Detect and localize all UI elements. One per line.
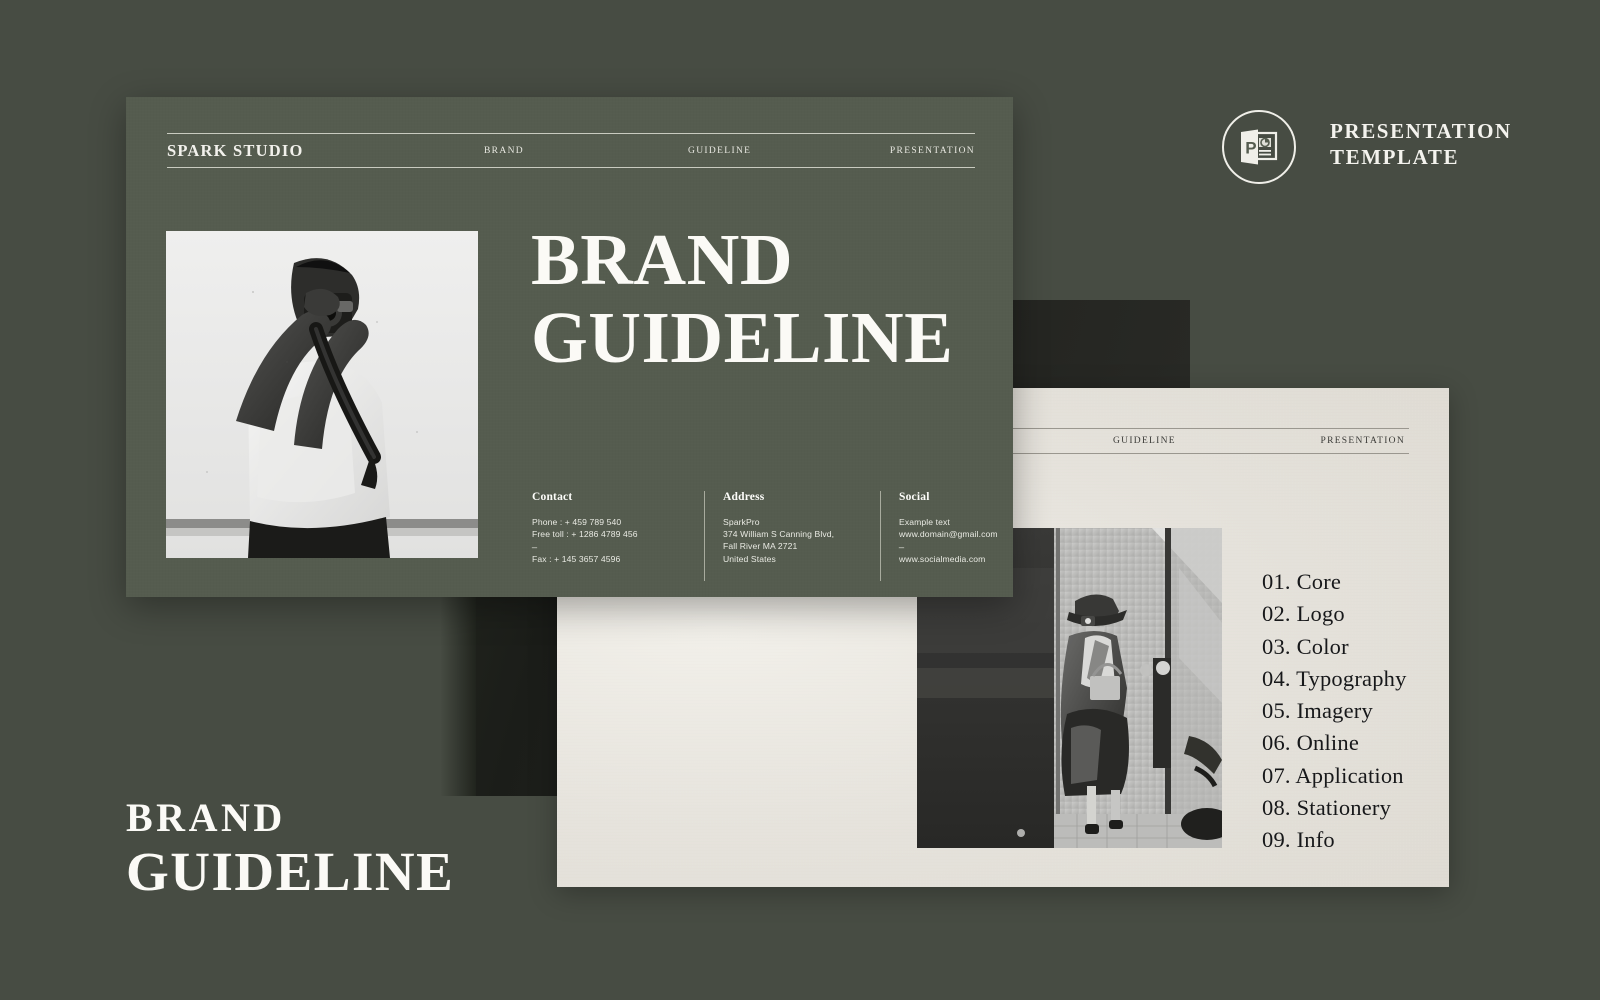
info-line: www.socialmedia.com [899, 553, 1002, 565]
toc-item: 08. Stationery [1262, 792, 1407, 824]
toc-item: 01. Core [1262, 566, 1407, 598]
powerpoint-badge: P [1222, 110, 1296, 184]
info-heading: Social [899, 491, 1002, 503]
slide-cover[interactable]: SPARK STUDIO BRAND GUIDELINE PRESENTATIO… [126, 97, 1013, 597]
info-heading: Contact [532, 491, 690, 503]
powerpoint-icon: P [1239, 129, 1279, 165]
info-column-address: Address SparkPro 374 William S Canning B… [704, 491, 880, 581]
toc-item: 04. Typography [1262, 663, 1407, 695]
table-of-contents-list: 01. Core 02. Logo 03. Color 04. Typograp… [1262, 566, 1407, 857]
template-title: PRESENTATION TEMPLATE [1330, 118, 1512, 170]
info-line: Phone : + 459 789 540 [532, 516, 690, 528]
toc-number: 06. [1262, 730, 1291, 755]
template-title-line2: TEMPLATE [1330, 144, 1512, 170]
info-heading: Address [723, 491, 880, 503]
toc-label[interactable]: Stationery [1297, 795, 1391, 820]
brand-name: SPARK STUDIO [167, 141, 304, 161]
toc-item: 03. Color [1262, 631, 1407, 663]
toc-label[interactable]: Color [1297, 634, 1349, 659]
toc-number: 05. [1262, 698, 1291, 723]
nav-brand: BRAND [484, 146, 524, 156]
photographer-photo-artwork [166, 231, 478, 558]
poster-wordmark: BRAND GUIDELINE [126, 795, 454, 903]
cream-nav-guideline: GUIDELINE [1113, 436, 1176, 446]
toc-item: 02. Logo [1262, 598, 1407, 630]
toc-item: 06. Online [1262, 727, 1407, 759]
photographer-photo [166, 231, 478, 558]
nav-presentation: PRESENTATION [890, 146, 975, 156]
toc-number: 03. [1262, 634, 1291, 659]
info-line: Example text [899, 516, 1002, 528]
toc-label[interactable]: Info [1297, 827, 1335, 852]
toc-label[interactable]: Typography [1296, 666, 1406, 691]
toc-label[interactable]: Core [1297, 569, 1342, 594]
cover-title-line2: GUIDELINE [531, 299, 1001, 377]
cream-nav-presentation: PRESENTATION [1320, 436, 1405, 446]
poster-canvas: GUIDELINE PRESENTATION [0, 0, 1600, 1000]
info-line: Free toll : + 1286 4789 456 [532, 528, 690, 540]
toc-number: 08. [1262, 795, 1291, 820]
info-line: www.domain@gmail.com [899, 528, 1002, 540]
contact-info-block: Contact Phone : + 459 789 540 Free toll … [532, 491, 1002, 581]
cover-slide-header: SPARK STUDIO BRAND GUIDELINE PRESENTATIO… [167, 133, 975, 168]
toc-item: 05. Imagery [1262, 695, 1407, 727]
powerpoint-icon-glyph: P [1239, 129, 1279, 165]
toc-label[interactable]: Imagery [1297, 698, 1373, 723]
toc-number: 02. [1262, 601, 1291, 626]
toc-item: 07. Application [1262, 760, 1407, 792]
info-line: 374 William S Canning Blvd, [723, 528, 880, 540]
template-title-line1: PRESENTATION [1330, 118, 1512, 144]
toc-number: 01. [1262, 569, 1291, 594]
info-line: United States [723, 553, 880, 565]
toc-item: 09. Info [1262, 824, 1407, 856]
info-line: Fax : + 145 3657 4596 [532, 553, 690, 565]
wordmark-line1: BRAND [126, 795, 454, 841]
svg-text:P: P [1245, 139, 1256, 158]
toc-number: 04. [1262, 666, 1291, 691]
info-column-contact: Contact Phone : + 459 789 540 Free toll … [532, 491, 704, 581]
info-column-social: Social Example text www.domain@gmail.com… [880, 491, 1002, 581]
info-line: SparkPro [723, 516, 880, 528]
wordmark-line2: GUIDELINE [126, 841, 454, 903]
info-divider-dash: _ [899, 540, 1002, 546]
toc-number: 09. [1262, 827, 1291, 852]
toc-number: 07. [1262, 763, 1291, 788]
nav-guideline: GUIDELINE [688, 146, 751, 156]
info-divider-dash: _ [532, 540, 690, 546]
cover-title-line1: BRAND [531, 219, 793, 300]
toc-label[interactable]: Logo [1297, 601, 1345, 626]
info-line: Fall River MA 2721 [723, 540, 880, 552]
toc-label[interactable]: Online [1297, 730, 1359, 755]
toc-label[interactable]: Application [1295, 763, 1403, 788]
cover-title: BRAND GUIDELINE [531, 221, 1001, 377]
